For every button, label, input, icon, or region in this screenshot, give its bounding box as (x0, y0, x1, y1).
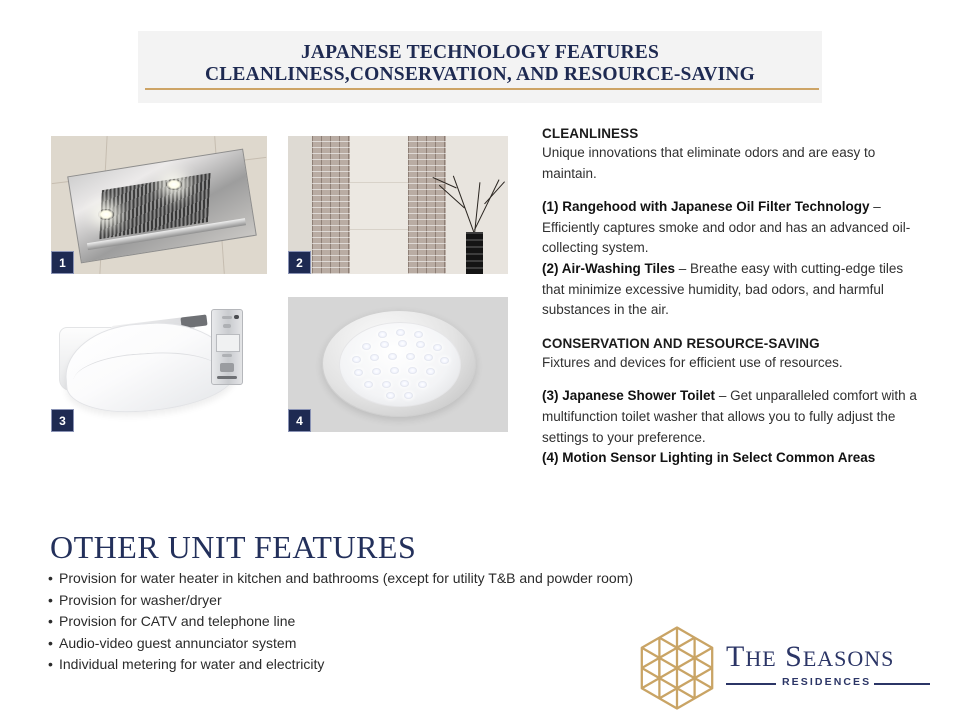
asanoha-hexagon-icon (633, 624, 721, 712)
textured-tile-band (312, 136, 350, 274)
feature-item-2-dash: – (675, 261, 690, 276)
photo-badge: 1 (51, 251, 74, 274)
led-diffuser (339, 322, 461, 407)
logo-wordmark: THE SEASONS (726, 641, 894, 675)
brand-logo: THE SEASONS RESIDENCES (630, 622, 930, 712)
remote-button (223, 324, 231, 328)
logo-rule-left (726, 683, 776, 685)
bullet-glyph: • (48, 633, 59, 655)
conservation-heading: CONSERVATION AND RESOURCE-SAVING (542, 334, 922, 353)
photo-air-washing-tiles: 2 (288, 136, 508, 274)
led-fixture-rim (322, 310, 476, 417)
photo-rangehood: 1 (51, 136, 267, 274)
photo-shower-toilet: 3 (51, 297, 267, 432)
list-item: •Provision for water heater in kitchen a… (48, 568, 708, 590)
list-item: •Provision for washer/dryer (48, 590, 708, 612)
feature-item-1: (1) Rangehood with Japanese Oil Filter T… (542, 197, 922, 259)
remote-display (216, 334, 240, 352)
title-line-2: CLEANLINESS,CONSERVATION, AND RESOURCE-S… (138, 64, 822, 86)
photo-badge: 2 (288, 251, 311, 274)
title-line-1: JAPANESE TECHNOLOGY FEATURES (138, 31, 822, 64)
rangehood-body (67, 149, 257, 264)
feature-item-1-text: Efficiently captures smoke and odor and … (542, 220, 910, 256)
logo-seasons-cap: S (785, 640, 803, 673)
bullet-glyph: • (48, 590, 59, 612)
list-item-label: Provision for water heater in kitchen an… (59, 570, 633, 586)
toilet-remote-control (211, 309, 243, 385)
photo-badge: 4 (288, 409, 311, 432)
logo-seasons-rest: EASONS (803, 646, 895, 671)
logo-the-rest: HE (745, 646, 776, 671)
list-item: •Audio-video guest annunciator system (48, 633, 708, 655)
list-item-label: Provision for washer/dryer (59, 592, 222, 608)
list-item: •Provision for CATV and telephone line (48, 611, 708, 633)
title-band: JAPANESE TECHNOLOGY FEATURES CLEANLINESS… (138, 31, 822, 103)
rangehood-lamp (98, 209, 114, 220)
list-item-label: Audio-video guest annunciator system (59, 635, 296, 651)
feature-item-1-label: (1) Rangehood with Japanese Oil Filter T… (542, 199, 870, 214)
smooth-tile-band (350, 136, 408, 274)
remote-button (234, 315, 239, 319)
feature-item-2-label: (2) Air-Washing Tiles (542, 261, 675, 276)
logo-the-cap: T (726, 640, 745, 673)
feature-item-3: (3) Japanese Shower Toilet – Get unparal… (542, 386, 922, 448)
logo-rule-right (874, 683, 930, 685)
photo-led-ceiling-light: 4 (288, 297, 508, 432)
remote-button (222, 316, 232, 319)
tile-seam (350, 182, 408, 183)
logo-subtitle: RESIDENCES (782, 676, 871, 688)
feature-item-2: (2) Air-Washing Tiles – Breathe easy wit… (542, 259, 922, 321)
logo-subtitle-row: RESIDENCES (726, 676, 930, 690)
bullet-glyph: • (48, 611, 59, 633)
rangehood-lamp (166, 179, 182, 190)
conservation-intro: Fixtures and devices for efficient use o… (542, 353, 922, 374)
other-features-heading: OTHER UNIT FEATURES (50, 529, 416, 565)
feature-item-1-dash: – (870, 199, 881, 214)
features-text-column: CLEANLINESS Unique innovations that elim… (542, 124, 922, 469)
feature-item-3-dash: – (715, 388, 730, 403)
list-item-label: Individual metering for water and electr… (59, 656, 324, 672)
feature-item-3-label: (3) Japanese Shower Toilet (542, 388, 715, 403)
tile-seam (350, 229, 408, 230)
remote-button (222, 354, 232, 357)
bullet-glyph: • (48, 568, 59, 590)
cleanliness-intro: Unique innovations that eliminate odors … (542, 143, 922, 184)
slide-canvas: JAPANESE TECHNOLOGY FEATURES CLEANLINESS… (0, 0, 980, 726)
bullet-glyph: • (48, 654, 59, 676)
list-item-label: Provision for CATV and telephone line (59, 613, 295, 629)
textured-tile-band (408, 136, 446, 274)
feature-item-4: (4) Motion Sensor Lighting in Select Com… (542, 448, 922, 469)
remote-button (217, 376, 237, 379)
remote-button (220, 363, 234, 372)
photo-badge: 3 (51, 409, 74, 432)
cleanliness-heading: CLEANLINESS (542, 124, 922, 143)
other-features-list: •Provision for water heater in kitchen a… (48, 568, 708, 676)
vase (466, 232, 483, 274)
list-item: •Individual metering for water and elect… (48, 654, 708, 676)
title-gold-rule (145, 88, 819, 90)
